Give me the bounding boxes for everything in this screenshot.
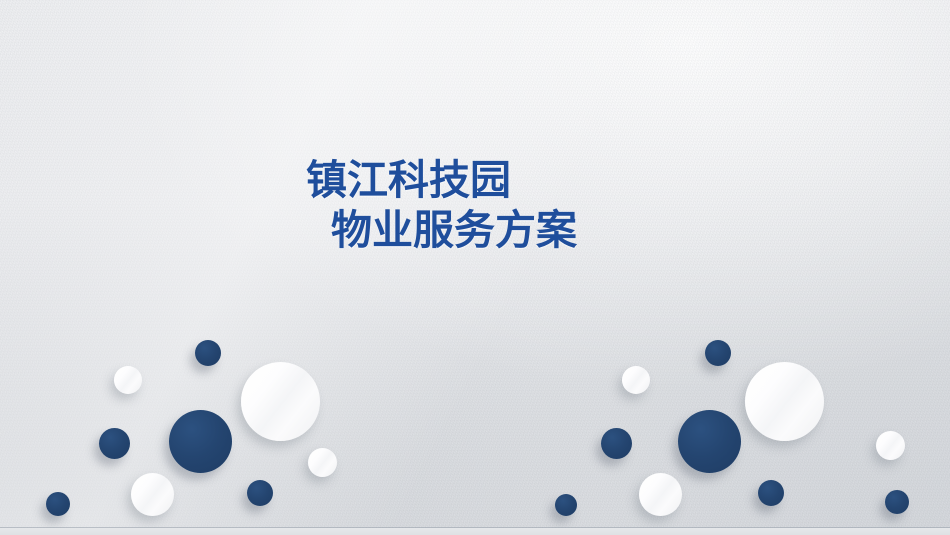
decorative-circle-right-white bbox=[876, 431, 905, 460]
slide-title-line-1: 镇江科技园 bbox=[0, 155, 950, 205]
decorative-circle-right-navy bbox=[678, 410, 741, 473]
background-sheen-overlay bbox=[0, 0, 950, 535]
decorative-circle-left-white bbox=[131, 473, 174, 516]
decorative-circle-left-white bbox=[114, 366, 142, 394]
decorative-circle-right-navy bbox=[555, 494, 577, 516]
slide-title-block: 镇江科技园 物业服务方案 bbox=[0, 155, 950, 255]
bottom-band bbox=[0, 528, 950, 535]
presentation-slide: 镇江科技园 物业服务方案 bbox=[0, 0, 950, 535]
decorative-circle-left-navy bbox=[99, 428, 130, 459]
decorative-circle-right-navy bbox=[758, 480, 784, 506]
decorative-circle-left-navy bbox=[195, 340, 221, 366]
slide-title-line-2: 物业服务方案 bbox=[0, 205, 950, 255]
decorative-circle-right-white bbox=[745, 362, 824, 441]
decorative-circle-left-navy bbox=[247, 480, 273, 506]
background-texture-overlay bbox=[0, 0, 950, 535]
decorative-circle-right-white bbox=[639, 473, 682, 516]
decorative-circle-left-white bbox=[241, 362, 320, 441]
decorative-circle-left-navy bbox=[169, 410, 232, 473]
decorative-circle-left-white bbox=[308, 448, 337, 477]
decorative-circle-right-navy bbox=[885, 490, 909, 514]
decorative-circle-right-navy bbox=[705, 340, 731, 366]
decorative-circle-right-white bbox=[622, 366, 650, 394]
decorative-circle-left-navy bbox=[46, 492, 70, 516]
decorative-circle-right-navy bbox=[601, 428, 632, 459]
